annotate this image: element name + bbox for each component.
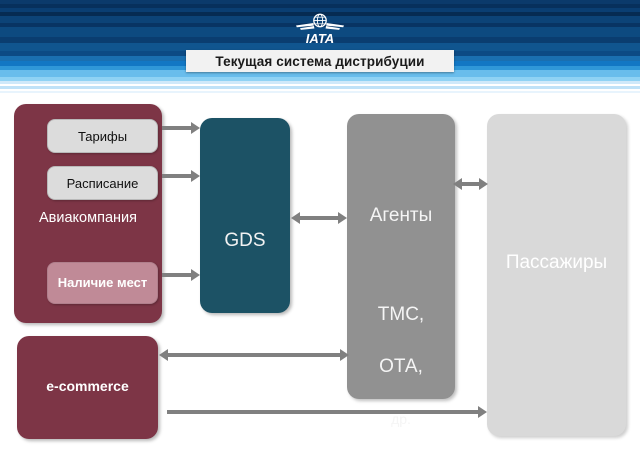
iata-logo: IATA bbox=[290, 12, 350, 46]
connector-ecommerce-agents bbox=[167, 353, 342, 357]
slide-title-plate: Текущая система дистрибуции bbox=[186, 50, 454, 72]
chip-availability[interactable]: Наличие мест bbox=[47, 262, 158, 304]
arrowhead-right-icon bbox=[191, 170, 200, 182]
diagram-canvas: Тарифы Расписание Авиакомпания Наличие м… bbox=[0, 96, 640, 454]
chip-fares[interactable]: Тарифы bbox=[47, 119, 158, 153]
node-ecommerce[interactable]: e-commerce bbox=[17, 336, 158, 439]
node-gds[interactable]: GDS bbox=[200, 118, 290, 313]
arrowhead-right-icon bbox=[478, 406, 487, 418]
node-airline[interactable]: Тарифы Расписание Авиакомпания Наличие м… bbox=[14, 104, 162, 323]
arrowhead-left-icon bbox=[291, 212, 300, 224]
chip-schedule-label: Расписание bbox=[67, 176, 139, 191]
connector-airline-gds-schedule bbox=[162, 174, 192, 178]
node-passengers[interactable]: Пассажиры bbox=[487, 114, 626, 436]
connector-ecommerce-passengers bbox=[167, 410, 480, 414]
node-ecommerce-label: e-commerce bbox=[17, 378, 158, 394]
node-agents-sublabels: ТМС, ОТА, др. bbox=[347, 276, 455, 458]
iata-logo-text: IATA bbox=[306, 31, 334, 46]
arrowhead-right-icon bbox=[340, 349, 349, 361]
arrowhead-right-icon bbox=[338, 212, 347, 224]
node-agents-label: Агенты bbox=[347, 205, 455, 227]
arrowhead-right-icon bbox=[191, 269, 200, 281]
node-agents[interactable]: Агенты ТМС, ОТА, др. bbox=[347, 114, 455, 399]
arrowhead-left-icon bbox=[453, 178, 462, 190]
node-gds-label: GDS bbox=[200, 230, 290, 252]
chip-fares-label: Тарифы bbox=[78, 129, 127, 144]
arrowhead-right-icon bbox=[479, 178, 488, 190]
node-airline-label: Авиакомпания bbox=[14, 210, 162, 226]
node-agents-sub1: ТМС, bbox=[347, 302, 455, 328]
node-agents-sub2: ОТА, bbox=[347, 354, 455, 380]
connector-airline-gds-availability bbox=[162, 273, 192, 277]
arrowhead-right-icon bbox=[191, 122, 200, 134]
chip-schedule[interactable]: Расписание bbox=[47, 166, 158, 200]
node-passengers-label: Пассажиры bbox=[487, 252, 626, 274]
arrowhead-left-icon bbox=[159, 349, 168, 361]
connector-gds-agents bbox=[299, 216, 339, 220]
chip-availability-label: Наличие мест bbox=[58, 275, 148, 291]
header-banner: IATA Текущая система дистрибуции bbox=[0, 0, 640, 96]
page-title: Текущая система дистрибуции bbox=[215, 54, 424, 69]
connector-airline-gds-fares bbox=[162, 126, 192, 130]
